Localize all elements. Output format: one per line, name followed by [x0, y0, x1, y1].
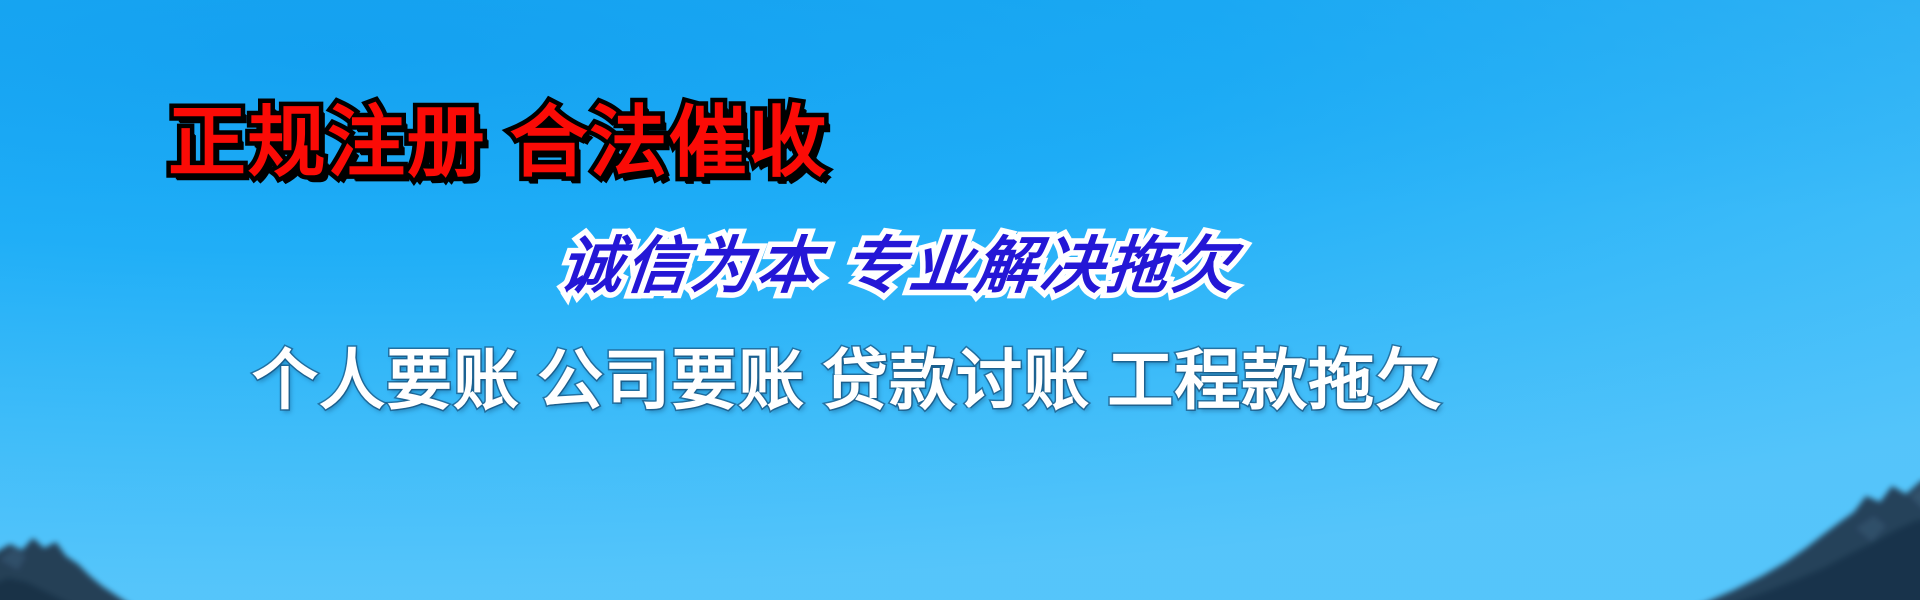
slogan: 诚信为本专业解决拖欠: [557, 236, 1242, 298]
service-item-1: 个人要账: [252, 343, 520, 417]
slogan-part-2: 专业解决拖欠: [840, 232, 1242, 301]
headline-part-2: 合法催收: [510, 98, 828, 186]
service-item-2: 公司要账: [537, 343, 805, 417]
banner-text-stack: 正规注册合法催收 诚信为本专业解决拖欠 个人要账公司要账贷款讨账工程款拖欠: [0, 0, 1920, 600]
promo-banner: 正规注册合法催收 诚信为本专业解决拖欠 个人要账公司要账贷款讨账工程款拖欠: [0, 0, 1920, 600]
service-item-3: 贷款讨账: [822, 343, 1090, 417]
service-item-4: 工程款拖欠: [1107, 343, 1442, 417]
services-list: 个人要账公司要账贷款讨账工程款拖欠: [252, 347, 1442, 413]
slogan-part-1: 诚信为本: [556, 232, 826, 301]
headline: 正规注册合法催收: [168, 103, 828, 181]
headline-part-1: 正规注册: [168, 98, 486, 186]
